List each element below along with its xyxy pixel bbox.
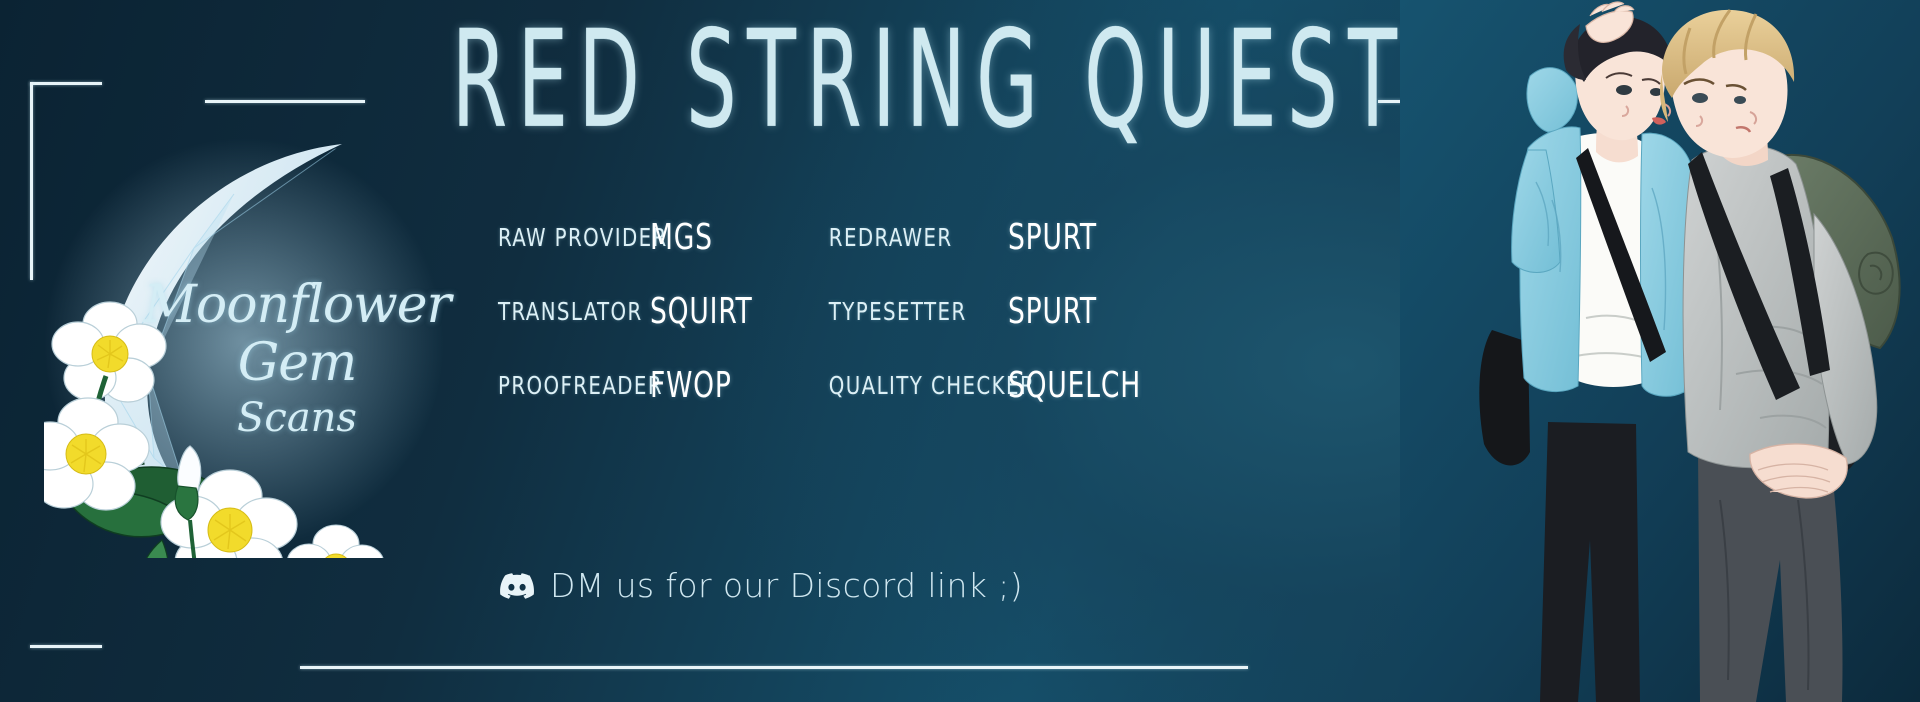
frame-corner-top-left-horizontal (30, 82, 102, 85)
credit-value-quality-checker: SQUELCH (1008, 365, 1115, 406)
credits-grid: RAW PROVIDER MGS REDRAWER SPURT TRANSLAT… (498, 200, 1138, 422)
credit-role-raw-provider: RAW PROVIDER (498, 223, 632, 252)
discord-invite-row[interactable]: DM us for our Discord link ;) (500, 566, 1023, 605)
credit-value-raw-provider: MGS (650, 217, 789, 258)
credit-value-translator: SQUIRT (650, 291, 789, 332)
credit-role-typesetter: TYPESETTER (820, 297, 985, 326)
frame-corner-top-left-vertical (30, 82, 33, 280)
credit-role-redrawer: REDRAWER (820, 223, 985, 252)
crescent-moon-icon (44, 128, 464, 558)
credit-value-typesetter: SPURT (1008, 291, 1115, 332)
credit-role-translator: TRANSLATOR (498, 297, 632, 326)
bottom-divider-rule (300, 666, 1248, 669)
credit-role-proofreader: PROOFREADER (498, 371, 632, 400)
character-artwork (1400, 0, 1920, 702)
title-rule-left (205, 100, 365, 103)
discord-icon (500, 573, 534, 599)
frame-corner-bottom-left-horizontal (30, 645, 102, 648)
credits-banner: RED STRING QUESTS (0, 0, 1920, 702)
credit-role-quality-checker: QUALITY CHECKER (820, 371, 985, 400)
discord-invite-text: DM us for our Discord link ;) (550, 566, 1023, 605)
credit-value-redrawer: SPURT (1008, 217, 1115, 258)
scanlation-group-logo: Moonflower Gem Scans (44, 128, 464, 558)
credit-value-proofreader: FWOP (650, 365, 789, 406)
